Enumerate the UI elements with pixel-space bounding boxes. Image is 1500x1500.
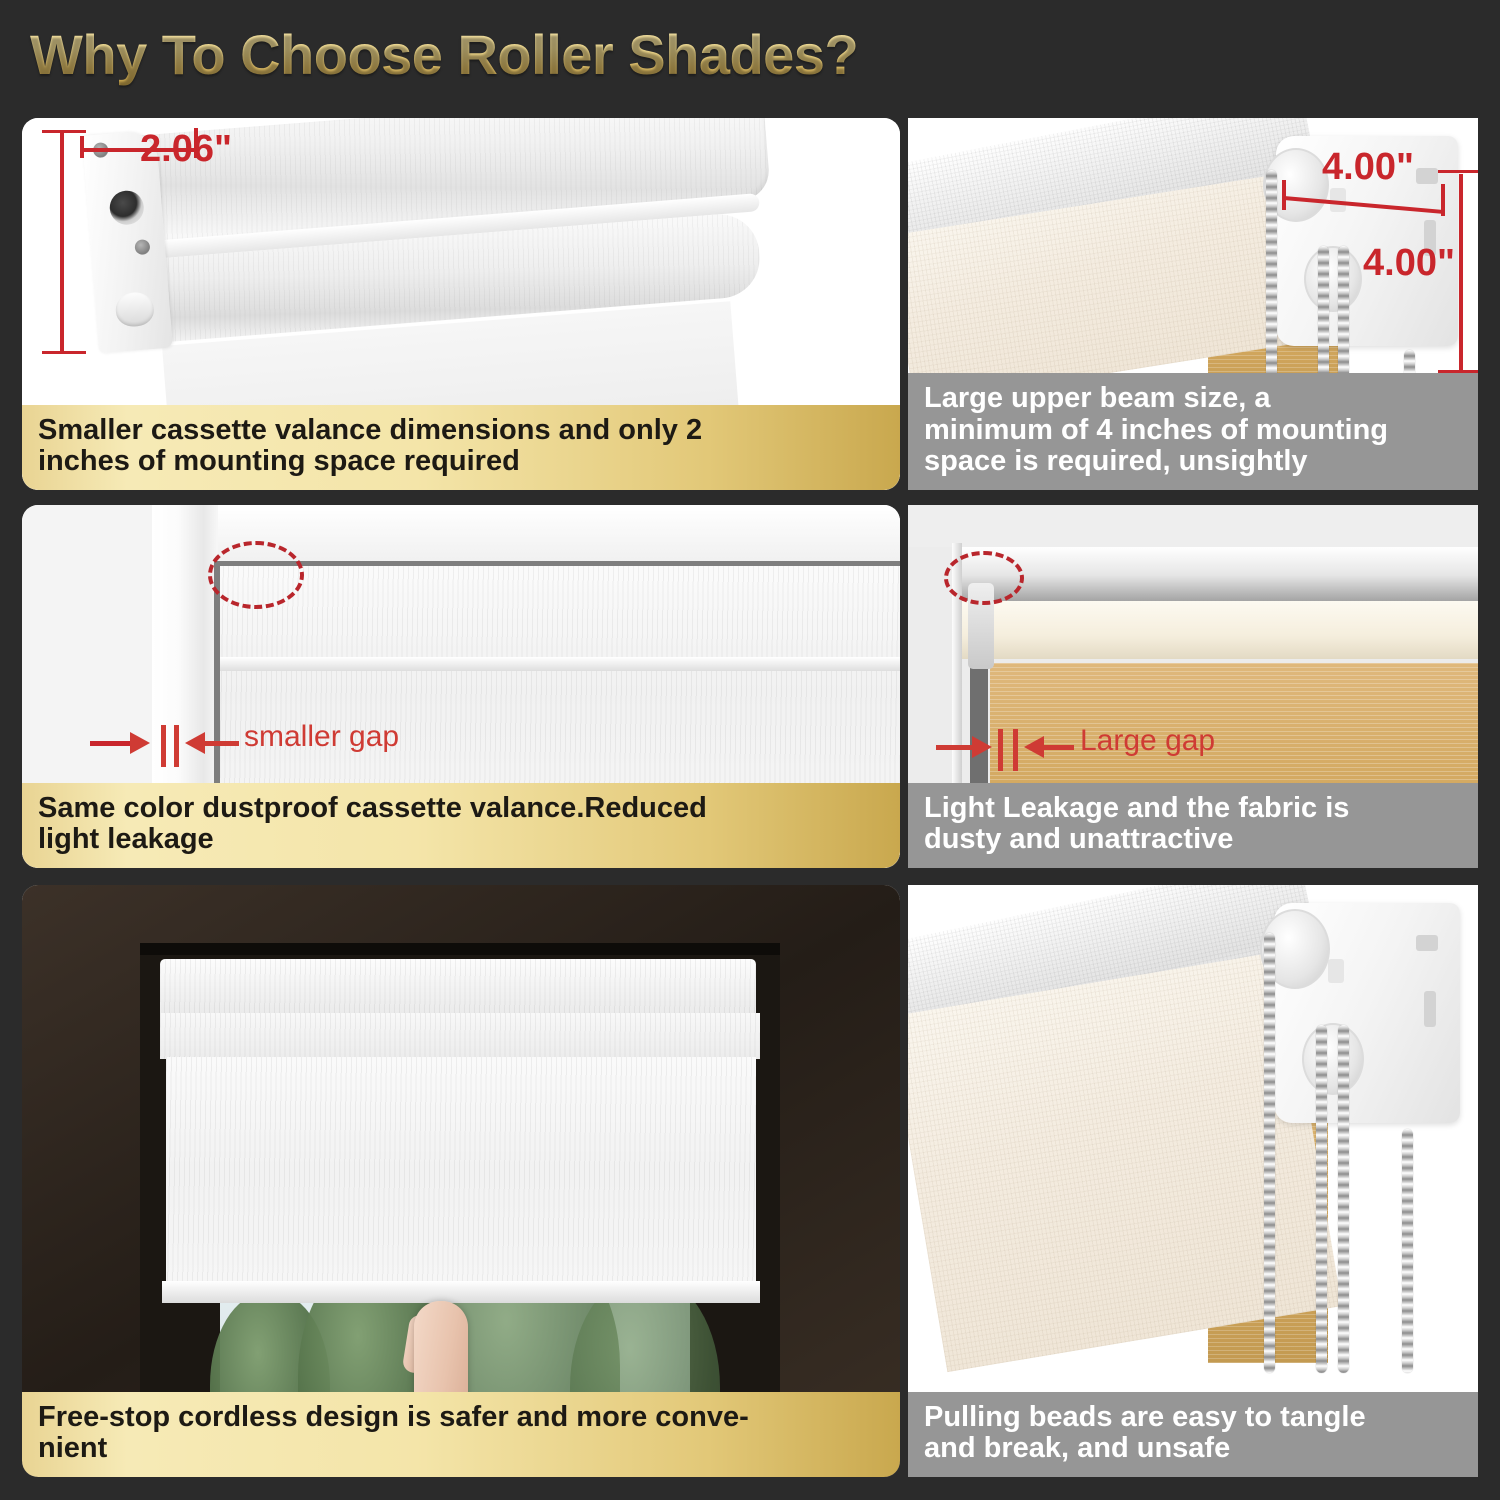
bracket-slot-2 — [1424, 991, 1436, 1027]
panel-good-smaller-gap: smaller gap Same color dustproof cassett… — [22, 505, 900, 868]
gap-arrow-left-head-icon — [130, 732, 150, 754]
bracket-slot-3 — [1328, 959, 1344, 983]
roller-end-cap-lower — [1302, 1023, 1364, 1095]
gap-tick-left — [161, 725, 166, 767]
panel-good-cassette-dimensions: 2.06" 5.49" Smaller cassette valance dim… — [22, 118, 900, 490]
gap-arrow-right-shaft — [1044, 745, 1074, 750]
gap-arrow-left-shaft — [90, 741, 132, 746]
width-dim-tick-left — [1282, 180, 1286, 210]
caption-line-1: Light Leakage and the fabric is — [924, 793, 1462, 825]
gap-label: smaller gap — [244, 720, 399, 754]
panel-image-large-gap: Large gap Light Leakage and the fabric i… — [908, 505, 1478, 868]
panel-good-cordless-design: Free-stop cordless design is safer and m… — [22, 885, 900, 1477]
upper-beam — [956, 547, 1478, 603]
ceiling-strip — [908, 505, 1478, 547]
caption-line-1: Large upper beam size, a — [924, 383, 1462, 415]
roller-end-cap-lower — [1304, 246, 1362, 312]
caption-good-smaller-gap: Same color dustproof cassette valance.Re… — [22, 783, 900, 868]
gap-tick-right — [174, 725, 179, 767]
height-dim-tick-top — [1438, 170, 1478, 173]
gap-arrow-right-head-icon — [1024, 736, 1044, 758]
panel-image-smaller-gap: smaller gap Same color dustproof cassett… — [22, 505, 900, 868]
caption-line-2: nient — [38, 1433, 884, 1465]
panel-image-cassette-valance: 2.06" 5.49" Smaller cassette valance dim… — [22, 118, 900, 490]
valance-band-texture — [160, 1013, 760, 1059]
bead-chain-2[interactable] — [1316, 1025, 1327, 1373]
gap-arrow-left-head-icon — [972, 736, 992, 758]
bead-chain-4[interactable] — [1402, 1129, 1413, 1373]
bottom-rail[interactable] — [162, 1281, 760, 1303]
height-dim-tick-top — [42, 130, 86, 133]
highlight-circle — [208, 541, 304, 609]
height-dim-line — [1459, 174, 1463, 372]
caption-line-2: minimum of 4 inches of mounting — [924, 415, 1462, 447]
cassette-valance — [160, 959, 756, 1019]
window-header-shadow — [140, 943, 780, 955]
height-dim-tick-bottom — [42, 351, 86, 354]
highlight-circle — [944, 551, 1024, 605]
bead-chain-3[interactable] — [1338, 1025, 1349, 1373]
comparison-grid: 2.06" 5.49" Smaller cassette valance dim… — [0, 0, 1500, 1500]
gap-tick-left — [998, 729, 1003, 771]
width-dim-tick-right — [1441, 184, 1445, 216]
bracket-slot-1 — [1416, 168, 1438, 184]
valance-texture — [160, 959, 756, 1019]
gap-arrow-right-shaft — [205, 741, 239, 746]
screw-icon-mid — [134, 239, 150, 255]
valance-bottom-rail — [218, 657, 900, 671]
caption-line-1: Same color dustproof cassette valance.Re… — [38, 793, 884, 825]
caption-bad-upper-beam-size: Large upper beam size, a minimum of 4 in… — [908, 373, 1478, 490]
latch-icon — [114, 291, 155, 328]
panel-bad-pulling-beads: Pulling beads are easy to tangle and bre… — [908, 885, 1478, 1477]
beam-lower-face — [962, 601, 1478, 659]
valance-lower-band — [160, 1013, 760, 1059]
caption-line-1: Smaller cassette valance dimensions and … — [38, 415, 884, 447]
panel-image-large-beam: 4.00" 4.00" Large upper beam size, a min… — [908, 118, 1478, 490]
caption-line-2: inches of mounting space required — [38, 446, 884, 478]
gap-arrow-right-head-icon — [185, 732, 205, 754]
bead-chain-1[interactable] — [1264, 933, 1275, 1373]
clutch-knob-icon — [108, 189, 145, 226]
height-dim-line — [60, 132, 64, 354]
width-dimension-label: 4.00" — [1322, 146, 1414, 189]
height-dimension-label: 4.00" — [1363, 242, 1455, 285]
panel-bad-upper-beam-size: 4.00" 4.00" Large upper beam size, a min… — [908, 118, 1478, 490]
caption-line-2: light leakage — [38, 824, 884, 856]
panel-image-bead-chains: Pulling beads are easy to tangle and bre… — [908, 885, 1478, 1477]
width-dim-tick-left — [80, 136, 84, 158]
panel-image-cordless-window: Free-stop cordless design is safer and m… — [22, 885, 900, 1477]
caption-line-3: space is required, unsightly — [924, 446, 1462, 478]
caption-bad-large-gap: Light Leakage and the fabric is dusty an… — [908, 783, 1478, 868]
shade-fabric — [166, 1057, 756, 1285]
caption-bad-pulling-beads: Pulling beads are easy to tangle and bre… — [908, 1392, 1478, 1477]
caption-line-2: dusty and unattractive — [924, 824, 1462, 856]
fabric-texture — [166, 1057, 756, 1285]
width-dimension-label: 2.06" — [140, 128, 232, 171]
caption-good-cordless-design: Free-stop cordless design is safer and m… — [22, 1392, 900, 1477]
caption-line-1: Pulling beads are easy to tangle — [924, 1402, 1462, 1434]
caption-line-1: Free-stop cordless design is safer and m… — [38, 1402, 884, 1434]
gap-label: Large gap — [1080, 724, 1215, 758]
valance-seam-line — [218, 561, 900, 566]
gap-arrow-left-shaft — [936, 745, 974, 750]
caption-good-cassette-dimensions: Smaller cassette valance dimensions and … — [22, 405, 900, 490]
gap-tick-right — [1013, 729, 1018, 771]
bracket-slot-1 — [1416, 935, 1438, 951]
caption-line-2: and break, and unsafe — [924, 1433, 1462, 1465]
panel-bad-large-gap: Large gap Light Leakage and the fabric i… — [908, 505, 1478, 868]
